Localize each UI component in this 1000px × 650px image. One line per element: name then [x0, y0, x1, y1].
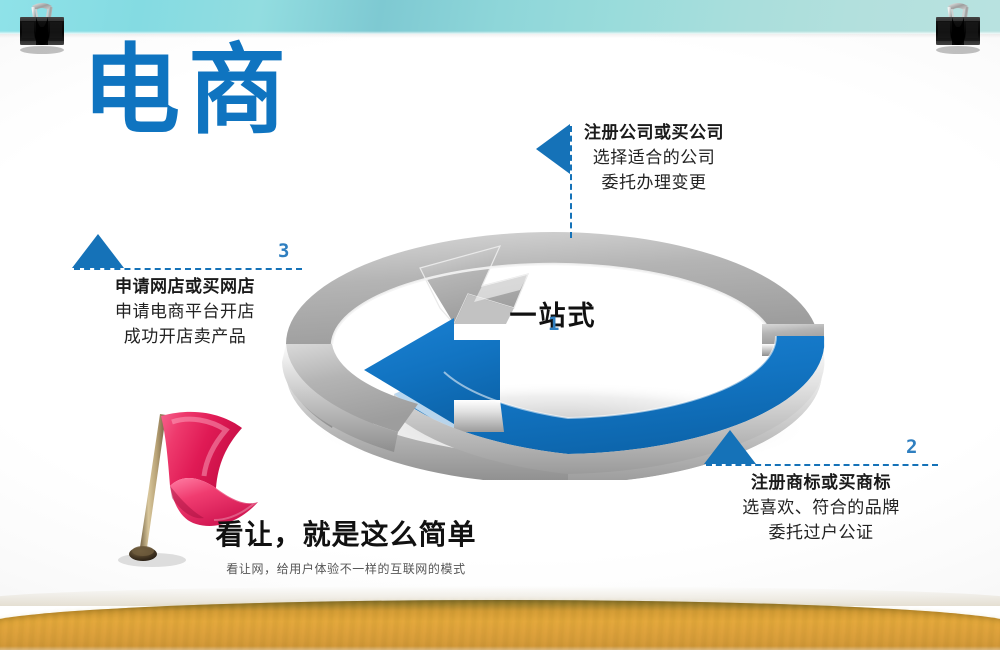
step-1-title: 注册公司或买公司 — [584, 118, 724, 143]
step-2-line-2: 委托过户公证 — [696, 518, 946, 543]
step-3-line-2: 成功开店卖产品 — [62, 322, 308, 347]
triangle-up-icon — [704, 430, 756, 464]
triangle-left-icon — [536, 124, 570, 174]
tagline-block: 看让，就是这么简单 看让网，给用户体验不一样的互联网的模式 — [196, 513, 496, 577]
tagline-main: 看让，就是这么简单 — [196, 513, 496, 553]
step-3-line-1: 申请电商平台开店 — [62, 297, 308, 322]
tagline-sub: 看让网，给用户体验不一样的互联网的模式 — [196, 560, 496, 577]
binder-clip-icon-right — [928, 0, 988, 56]
poster-canvas: 电商 — [0, 0, 1000, 650]
step-2-dashed-line — [706, 464, 938, 466]
step-3-title: 申请网店或买网店 — [62, 272, 308, 297]
step-3-number: 3 — [278, 242, 289, 261]
step-2-text: 注册商标或买商标 选喜欢、符合的品牌 委托过户公证 — [696, 468, 946, 543]
step-2-line-1: 选喜欢、符合的品牌 — [696, 493, 946, 518]
bottom-wheat-band — [0, 600, 1000, 650]
step-1-text: 注册公司或买公司 选择适合的公司 委托办理变更 — [584, 118, 724, 193]
step-1-line-1: 选择适合的公司 — [584, 143, 724, 168]
step-2-number: 2 — [906, 438, 917, 457]
page-title: 电商 — [82, 42, 294, 140]
step-3-dashed-line — [74, 268, 302, 270]
binder-clip-icon-left — [12, 0, 72, 56]
top-sky-band — [0, 0, 1000, 34]
step-2-title: 注册商标或买商标 — [696, 468, 946, 493]
step-1-line-2: 委托办理变更 — [584, 168, 724, 193]
step-1-number: 1 — [548, 315, 559, 334]
triangle-up-icon — [72, 234, 124, 268]
step-1-dashed-line — [570, 126, 572, 238]
step-3-text: 申请网店或买网店 申请电商平台开店 成功开店卖产品 — [62, 272, 308, 347]
